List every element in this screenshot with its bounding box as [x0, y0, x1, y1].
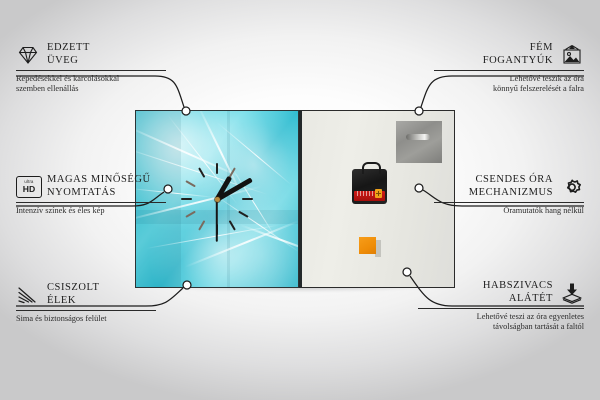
callout-description: Sima és biztonságos felület: [16, 314, 156, 324]
callout-divider: [434, 202, 584, 203]
ultra-hd-badge-icon: ultra HD: [16, 176, 40, 198]
connector-dot-foam: [403, 268, 411, 276]
callout-header: CSISZOLT ÉLEK: [16, 282, 156, 307]
callout-divider: [16, 70, 166, 71]
callout-high-quality-print: ultra HD MAGAS MINŐSÉGŰ NYOMTATÁS Intenz…: [16, 174, 166, 216]
callout-header: CSENDES ÓRA MECHANIZMUS: [434, 174, 584, 199]
callout-tempered-glass: EDZETT ÜVEG Repedésekkel és karcolásokka…: [16, 42, 166, 94]
callout-divider: [16, 310, 156, 311]
callout-title: CSISZOLT ÉLEK: [47, 282, 99, 307]
gear-icon: [560, 176, 584, 198]
callout-description: Lehetővé teszik az óra könnyű felszerelé…: [434, 74, 584, 94]
callout-title: MAGAS MINŐSÉGŰ NYOMTATÁS: [47, 174, 151, 199]
callout-description: Lehetővé teszi az óra egyenletes távolsá…: [418, 312, 584, 332]
callout-title: HABSZIVACS ALÁTÉT: [483, 280, 553, 305]
callout-divider: [418, 308, 584, 309]
badge-hd-label: HD: [23, 185, 35, 194]
callout-title: EDZETT ÜVEG: [47, 42, 90, 67]
callout-description: Repedésekkel és karcolásokkal szemben el…: [16, 74, 166, 94]
callout-header: EDZETT ÜVEG: [16, 42, 166, 67]
callout-divider: [16, 202, 166, 203]
picture-hanger-icon: [560, 44, 584, 66]
foam-pad-arrow-icon: [560, 282, 584, 304]
callout-title: CSENDES ÓRA MECHANIZMUS: [469, 174, 553, 199]
callout-foam-pad: HABSZIVACS ALÁTÉT Lehetővé teszi az óra …: [418, 280, 584, 332]
callout-quiet-mechanism: CSENDES ÓRA MECHANIZMUS Óramutatók hang …: [434, 174, 584, 216]
callout-polished-edges: CSISZOLT ÉLEK Sima és biztonságos felüle…: [16, 282, 156, 324]
connector-dot-handles: [415, 107, 423, 115]
callout-metal-handles: FÉM FOGANTYÚK Lehetővé teszik az óra kön…: [434, 42, 584, 94]
callout-description: Óramutatók hang nélkül: [434, 206, 584, 216]
connector-dot-mechanism: [415, 184, 423, 192]
callout-header: ultra HD MAGAS MINŐSÉGŰ NYOMTATÁS: [16, 174, 166, 199]
diamond-icon: [16, 44, 40, 66]
polished-edges-icon: [16, 284, 40, 306]
callout-title: FÉM FOGANTYÚK: [483, 42, 553, 67]
callout-description: Intenzív színek és éles kép: [16, 206, 166, 216]
callout-header: FÉM FOGANTYÚK: [434, 42, 584, 67]
connector-dot-glass: [182, 107, 190, 115]
connector-dot-edges: [183, 281, 191, 289]
callout-header: HABSZIVACS ALÁTÉT: [418, 280, 584, 305]
infographic-canvas: EDZETT ÜVEG Repedésekkel és karcolásokka…: [0, 0, 600, 400]
callout-divider: [434, 70, 584, 71]
